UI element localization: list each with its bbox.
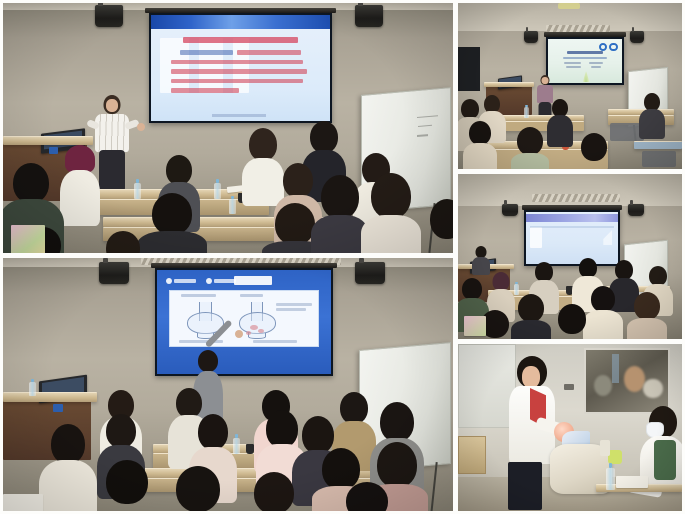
head: [283, 163, 313, 198]
water-bottle-3: [229, 199, 236, 214]
audience-person-7: [586, 286, 620, 339]
panel-lecture-wide[interactable]: Wide view of a classroom: female instruc…: [3, 3, 453, 253]
podium-top: [3, 392, 97, 402]
torso: [547, 115, 573, 147]
slide-line-1b: [237, 50, 301, 55]
slide-title-text: [234, 276, 272, 284]
torso: [137, 231, 207, 253]
audience-person-6: [514, 127, 546, 169]
torso: [39, 460, 97, 511]
audience-person-10: [554, 304, 590, 339]
head: [51, 424, 85, 464]
slide-footer: [212, 114, 266, 117]
green-supply-item: [608, 450, 622, 464]
slide-title-band: [526, 214, 618, 222]
head: [266, 410, 298, 448]
chair-back-2: [642, 151, 676, 167]
banner-chip-2: [199, 38, 222, 93]
audience-person-5: [466, 121, 494, 169]
head: [380, 402, 414, 442]
dark-trousers: [508, 462, 542, 510]
diagram-footnote-left: [179, 340, 223, 343]
colorful-tote: [464, 316, 486, 336]
slide-main-title: [567, 51, 603, 55]
audience-person-10: [315, 175, 365, 253]
diagram-lesion-3: [246, 331, 251, 335]
slide-text: [151, 15, 330, 121]
audience-person-16: [339, 482, 395, 511]
head: [106, 414, 136, 448]
person-demo-instructor: [508, 356, 556, 510]
slide-line-3: [171, 69, 307, 74]
torso: [511, 320, 551, 339]
head: [461, 99, 479, 119]
clipboard-paper: [616, 476, 648, 488]
audience-person-9: [630, 292, 664, 339]
slide-subtitle: [563, 57, 607, 59]
leaf-graphic: [583, 71, 590, 82]
head: [517, 127, 543, 155]
supply-bottle: [600, 440, 610, 456]
ceiling-speaker-right: [628, 204, 644, 216]
slide-meta-1: [564, 62, 580, 64]
head: [371, 173, 411, 219]
instructor-torso: [95, 114, 129, 152]
torso: [361, 215, 421, 253]
audience-person-11: [365, 173, 417, 253]
projection-screen: [524, 210, 620, 266]
slide-title-chip: [530, 227, 542, 249]
demo-room-scene: [458, 344, 682, 511]
audience-person-8: [514, 294, 548, 339]
diagram-callout-1: [276, 303, 311, 306]
panel-blank-slide[interactable]: Rear view of participants seated at tabl…: [458, 174, 682, 339]
slide-diagram: [157, 270, 331, 374]
head: [579, 258, 597, 278]
panel-pointing-slide[interactable]: Presenter reaching up to point at an ana…: [3, 258, 453, 511]
water-bottle-1: [524, 107, 529, 118]
torso: [639, 109, 665, 139]
diagram-canal: [248, 333, 266, 339]
slide-blank: [526, 212, 618, 264]
panel-title-slide[interactable]: Instructor standing in front of the open…: [458, 3, 682, 169]
water-bottle: [606, 468, 615, 490]
banner-chip-3: [233, 38, 249, 93]
head: [469, 121, 491, 145]
slide-line-2: [171, 60, 303, 65]
slide-title: [548, 39, 622, 83]
slide-meta-4: [591, 66, 601, 68]
head: [13, 163, 49, 203]
ceiling-speaker-left: [95, 5, 123, 27]
photo-collage: Wide view of a classroom: female instruc…: [0, 0, 685, 514]
classroom-scene: [3, 3, 453, 253]
logo-dot-1: [166, 278, 172, 284]
instructor-face: [542, 77, 549, 84]
paper-cup: [246, 444, 254, 454]
head-with-cap: [65, 145, 95, 173]
flipchart-leg: [430, 462, 437, 511]
ceiling-light: [558, 3, 580, 9]
logo-circle-2: [609, 43, 617, 51]
audience-person-12: [427, 199, 453, 253]
projection-screen: [155, 268, 333, 376]
diagram-footnote-right: [253, 340, 297, 343]
diagram-label-right: [240, 294, 264, 298]
head: [346, 482, 388, 511]
instructor-face: [106, 99, 118, 112]
head: [615, 260, 633, 280]
open-notebook: [3, 494, 43, 511]
head: [634, 292, 660, 320]
wall-monitor: [458, 47, 480, 91]
instructor-skirt: [99, 150, 125, 190]
audience-person-1: [640, 93, 664, 135]
logo-wordmark-2: [214, 279, 236, 283]
head: [106, 231, 140, 253]
audience-person-13: [99, 460, 155, 511]
head: [340, 392, 368, 424]
diagram-label-left: [181, 294, 216, 298]
head: [518, 294, 544, 322]
head: [649, 266, 667, 286]
head: [275, 203, 315, 245]
head: [254, 472, 294, 511]
ceiling-speaker-left: [99, 262, 129, 284]
banner-chip-1: [160, 38, 189, 93]
audience-person-6: [61, 145, 99, 223]
slide-line-1a: [180, 50, 234, 55]
person-presenter-at-podium: [472, 246, 490, 274]
head: [462, 278, 482, 300]
face: [522, 366, 540, 388]
water-bottle-1: [134, 183, 141, 199]
head: [106, 460, 148, 504]
head: [535, 262, 553, 282]
window-figure-3: [643, 379, 663, 399]
window-figure-1: [624, 366, 645, 392]
whiteboard-scribble-3: [417, 134, 428, 136]
audience-person-14: [99, 231, 147, 253]
slide-logo-left: [166, 277, 196, 284]
slide-line-5: [171, 88, 239, 93]
whiteboard-scribble-2: [418, 124, 432, 127]
slide-line-4: [171, 79, 303, 84]
classroom-scene: [3, 258, 453, 511]
ceiling-speaker-left: [524, 31, 538, 43]
slide-meta-3: [566, 66, 581, 68]
head: [198, 414, 228, 450]
head: [166, 155, 192, 185]
slide-banner: [151, 15, 330, 29]
podium-badge: [53, 404, 63, 412]
window-mullion: [612, 354, 619, 384]
torso: [60, 170, 100, 226]
podium-top: [484, 82, 534, 87]
head: [591, 286, 615, 312]
green-vest: [654, 440, 676, 480]
torso: [463, 143, 497, 169]
ceiling-speaker-left: [502, 204, 518, 216]
projection-screen: [149, 13, 332, 123]
head: [581, 133, 607, 161]
head: [321, 175, 359, 219]
person-masked-participant: [644, 406, 682, 510]
torso: [627, 318, 667, 339]
logo-wordmark-1: [174, 279, 196, 283]
instructor-hand: [137, 123, 145, 131]
classroom-scene: [458, 174, 682, 339]
head: [558, 304, 586, 334]
diagram-callout-2: [276, 308, 306, 311]
whiteboard-scribble-1: [417, 115, 438, 118]
ceiling-speaker-right: [630, 31, 644, 43]
ceiling-speaker-right: [355, 262, 385, 284]
logo-circle-1: [599, 43, 607, 51]
head: [249, 128, 277, 161]
head: [152, 193, 192, 235]
slide-meta-2: [589, 62, 602, 64]
podium-badge: [49, 147, 58, 154]
panel-doll-demo[interactable]: Instructor in a white shirt demonstratin…: [458, 344, 682, 511]
water-bottle-2: [214, 183, 221, 199]
audience-person-8: [143, 193, 201, 253]
slide-rule: [530, 226, 615, 228]
head: [176, 466, 220, 511]
audience-person-14: [169, 466, 227, 511]
ceiling-vent: [532, 194, 620, 202]
audience-person-7: [578, 133, 610, 169]
torso: [511, 153, 549, 169]
audience-person-15: [247, 472, 301, 511]
cardboard-box-left: [458, 436, 486, 474]
slide-title-text: [183, 37, 298, 42]
slide-content-card: [169, 290, 319, 347]
instructor-pointing-hand: [235, 330, 243, 338]
window-figure-2: [594, 375, 612, 396]
ceiling-vent: [546, 25, 610, 32]
audience-person-10: [43, 424, 93, 511]
slide-band-mark: [603, 230, 612, 246]
colorful-tote: [11, 225, 45, 253]
wall-switch: [564, 384, 574, 390]
logo-dot-2: [206, 278, 212, 284]
head: [310, 121, 338, 153]
ceiling-speaker-right: [355, 5, 383, 27]
head: [430, 199, 453, 239]
instructor-head: [198, 350, 218, 372]
slide-logo-right: [206, 277, 236, 284]
podium-bottle: [29, 382, 36, 396]
podium-top: [3, 136, 93, 145]
audience-person-2: [548, 99, 572, 143]
interior-window: [584, 348, 670, 414]
classroom-scene: [458, 3, 682, 169]
table-right-2: [634, 141, 682, 149]
